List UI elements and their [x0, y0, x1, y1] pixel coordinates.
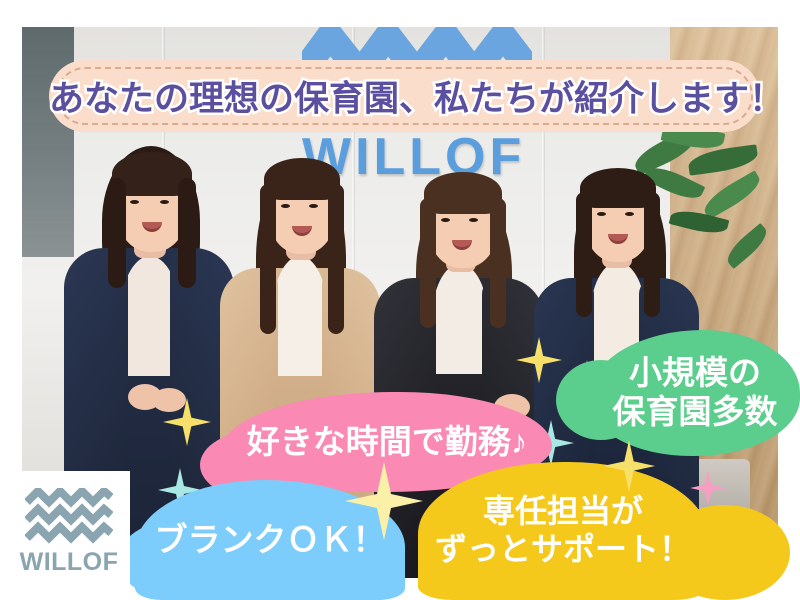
bubble-small-nursery[interactable]: 小規模の 保育園多数 [590, 330, 800, 456]
willof-wordmark: WILLOF [20, 548, 119, 577]
willof-logo-card: WILLOF [8, 471, 130, 593]
bubble-flexible-hours-line1: 好きな時間で勤務♪ [247, 423, 528, 462]
willof-zigzag-icon [25, 488, 113, 544]
headline-text: あなたの理想の保育園、私たちが紹介します！ [49, 71, 760, 122]
sparkle-icon [516, 337, 562, 383]
bubble-small-nursery-line2: 保育園多数 [613, 393, 778, 432]
bubble-dedicated-support-line2: ずっとサポート！ [435, 531, 691, 569]
bubble-dedicated-support-line1: 専任担当が [435, 493, 691, 531]
headline-banner: あなたの理想の保育園、私たちが紹介します！ [49, 60, 760, 132]
sparkle-icon [345, 462, 423, 540]
bubble-dedicated-support[interactable]: 専任担当が ずっとサポート！ [418, 462, 708, 600]
bubble-small-nursery-line1: 小規模の [613, 354, 778, 393]
sparkle-icon [690, 470, 726, 506]
poster-root: WILLOF [0, 0, 800, 600]
sparkle-icon [603, 440, 655, 492]
